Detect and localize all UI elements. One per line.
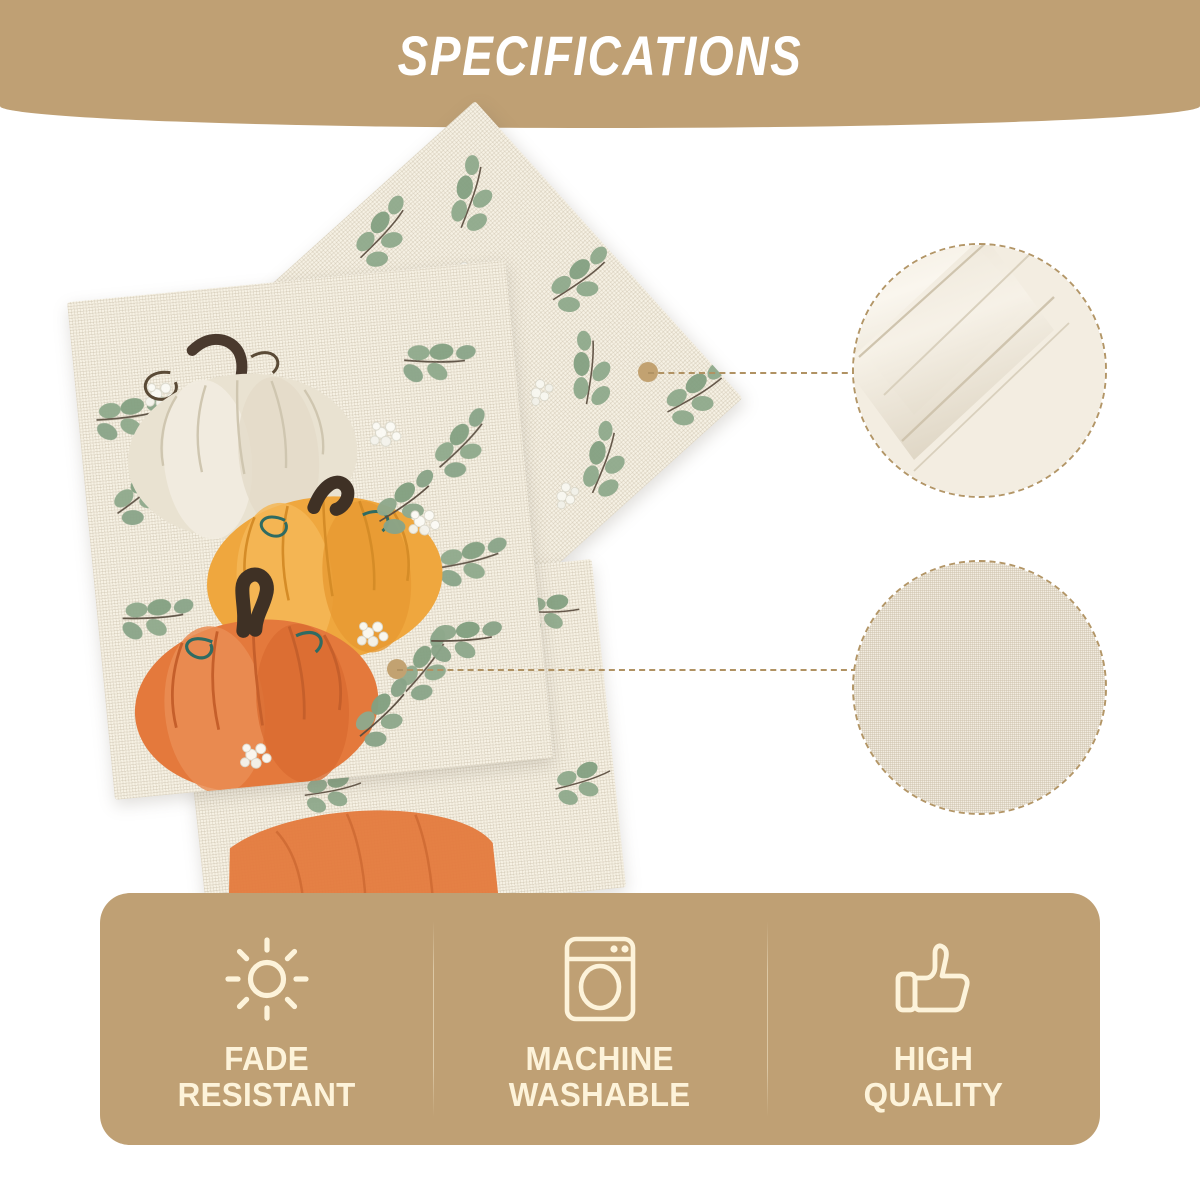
feature-line2: WASHABLE <box>509 1077 691 1113</box>
sun-icon <box>224 933 310 1025</box>
feature-line1: FADE <box>224 1040 309 1077</box>
specifications-page: SPECIFICATIONS <box>0 0 1200 1200</box>
feature-bar: FADE RESISTANT MACHINE WASHABLE <box>100 893 1100 1145</box>
callout-line-folded-edge <box>648 372 858 374</box>
fabric-weave-texture <box>854 562 1105 813</box>
feature-line2: QUALITY <box>864 1077 1004 1113</box>
product-photo <box>70 150 770 870</box>
feature-line2: RESISTANT <box>178 1077 356 1113</box>
callout-line-weave <box>397 669 857 671</box>
folded-edge-illustration <box>854 245 1107 498</box>
feature-label-high-quality: HIGH QUALITY <box>864 1041 1004 1112</box>
feature-line1: MACHINE <box>526 1040 674 1077</box>
feature-label-machine-washable: MACHINE WASHABLE <box>509 1041 691 1112</box>
thumbs-up-icon <box>890 933 976 1025</box>
detail-circle-fabric-weave <box>852 560 1107 815</box>
detail-circle-folded-edge <box>852 243 1107 498</box>
header-banner: SPECIFICATIONS <box>0 0 1200 128</box>
washing-machine-icon <box>563 933 637 1025</box>
page-title: SPECIFICATIONS <box>108 28 1092 84</box>
feature-line1: HIGH <box>894 1040 974 1077</box>
feature-fade-resistant[interactable]: FADE RESISTANT <box>100 893 433 1145</box>
towel-front-layer <box>67 260 553 800</box>
feature-machine-washable[interactable]: MACHINE WASHABLE <box>433 893 766 1145</box>
pumpkin-eucalyptus-artwork <box>67 260 553 800</box>
feature-high-quality[interactable]: HIGH QUALITY <box>767 893 1100 1145</box>
feature-label-fade-resistant: FADE RESISTANT <box>178 1041 356 1112</box>
